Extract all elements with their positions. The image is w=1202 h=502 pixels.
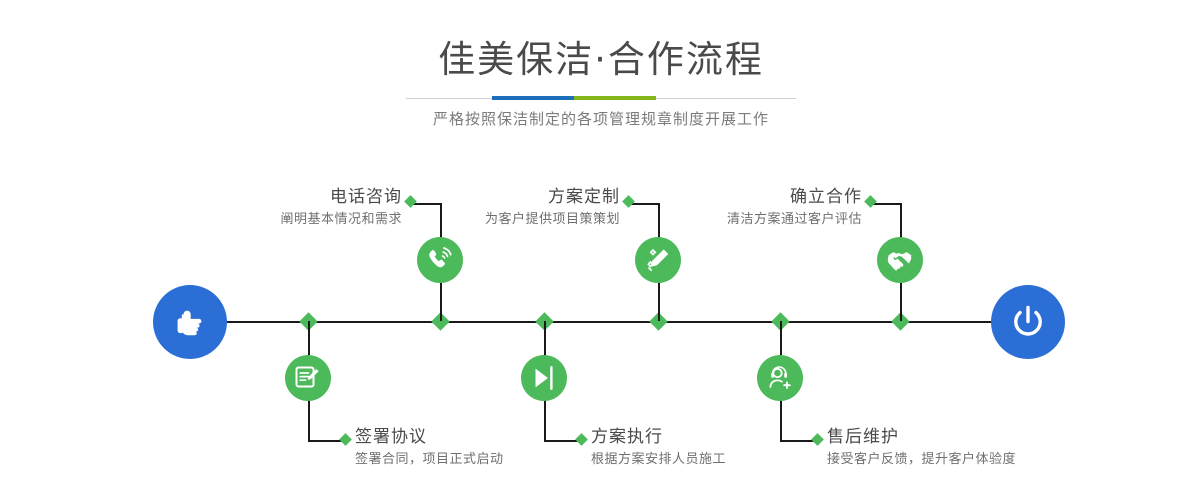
step-icon-6 [757,355,803,401]
handshake-icon [887,247,913,273]
step-desc-4: 根据方案安排人员施工 [591,450,851,470]
step-desc-6: 接受客户反馈，提升客户体验度 [827,450,1107,470]
step-desc-3: 为客户提供项目策策划 [372,210,620,230]
play-execute-icon [531,365,557,391]
connector-horizontal-2 [308,440,344,442]
divider-segment-green [574,96,656,100]
step-desc-1: 阐明基本情况和需求 [152,210,402,230]
step-title-1: 电话咨询 [152,186,402,208]
timeline-end-node [991,285,1065,359]
step-title-3: 方案定制 [372,186,620,208]
step-desc-5: 清洁方案通过客户评估 [614,210,862,230]
page-subtitle: 严格按照保洁制定的各项管理规章制度开展工作 [0,108,1202,130]
step-label-6: 售后维护 接受客户反馈，提升客户体验度 [827,426,1107,470]
connector-horizontal-4 [544,440,580,442]
step-icon-5 [877,237,923,283]
connector-horizontal-5 [872,203,901,205]
timeline-start-node [153,285,227,359]
page-title: 佳美保洁·合作流程 [0,38,1202,82]
step-icon-3 [635,237,681,283]
flowchart-canvas: 佳美保洁·合作流程 严格按照保洁制定的各项管理规章制度开展工作 [0,0,1202,502]
document-edit-icon [295,365,321,391]
step-label-4: 方案执行 根据方案安排人员施工 [591,426,851,470]
step-title-5: 确立合作 [614,186,862,208]
pointing-hand-icon [170,302,210,342]
step-label-2: 签署协议 签署合同，项目正式启动 [355,426,615,470]
phone-call-icon [427,247,453,273]
divider-segment-blue [492,96,574,100]
step-label-3: 方案定制 为客户提供项目策策划 [372,186,620,230]
step-icon-2 [285,355,331,401]
label-marker-5 [864,195,877,208]
label-marker-2 [339,433,352,446]
step-icon-4 [521,355,567,401]
step-label-1: 电话咨询 阐明基本情况和需求 [152,186,402,230]
pencil-design-icon [645,247,671,273]
step-title-6: 售后维护 [827,426,1107,448]
step-icon-1 [417,237,463,283]
connector-horizontal-6 [780,440,816,442]
customer-service-icon [767,365,793,391]
power-icon [1007,301,1049,343]
title-divider [406,96,796,100]
step-label-5: 确立合作 清洁方案通过客户评估 [614,186,862,230]
step-desc-2: 签署合同，项目正式启动 [355,450,615,470]
